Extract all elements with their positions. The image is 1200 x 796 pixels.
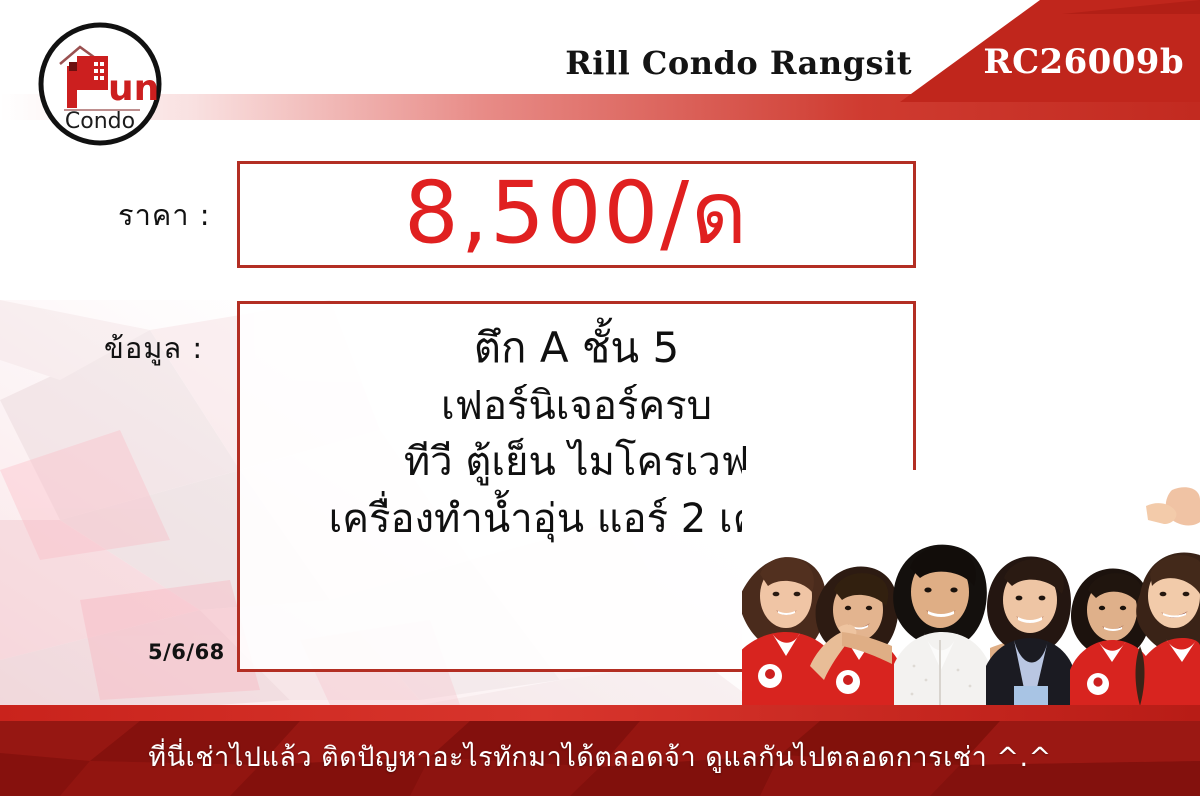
footer-banner: ที่นี่เช่าไปแล้ว ติดปัญหาอะไรทักมาได้ตลอ… (0, 705, 1200, 796)
svg-text:un: un (108, 68, 159, 109)
brand-logo: un Condo (36, 20, 164, 148)
info-label: ข้อมูล : (104, 325, 203, 371)
price-value: 8,500/ด (240, 170, 913, 256)
page-title: Rill Condo Rangsit (565, 44, 912, 82)
footer-message: ที่นี่เช่าไปแล้ว ติดปัญหาอะไรทักมาได้ตลอ… (0, 735, 1200, 778)
price-label: ราคา : (118, 192, 211, 238)
header: Rill Condo Rangsit RC26009b (0, 0, 1200, 102)
price-box: 8,500/ด (237, 161, 916, 268)
date-stamp: 5/6/68 (148, 640, 225, 664)
info-line: เฟอร์นิเจอร์ครบ (240, 378, 913, 435)
info-line: ตึก A ชั้น 5 (240, 318, 913, 378)
listing-code: RC26009b (983, 42, 1184, 82)
footer-top-strip (0, 705, 1200, 721)
svg-text:Condo: Condo (65, 109, 135, 134)
team-photo (742, 470, 1200, 718)
listing-poster: Rill Condo Rangsit RC26009b un (0, 0, 1200, 796)
